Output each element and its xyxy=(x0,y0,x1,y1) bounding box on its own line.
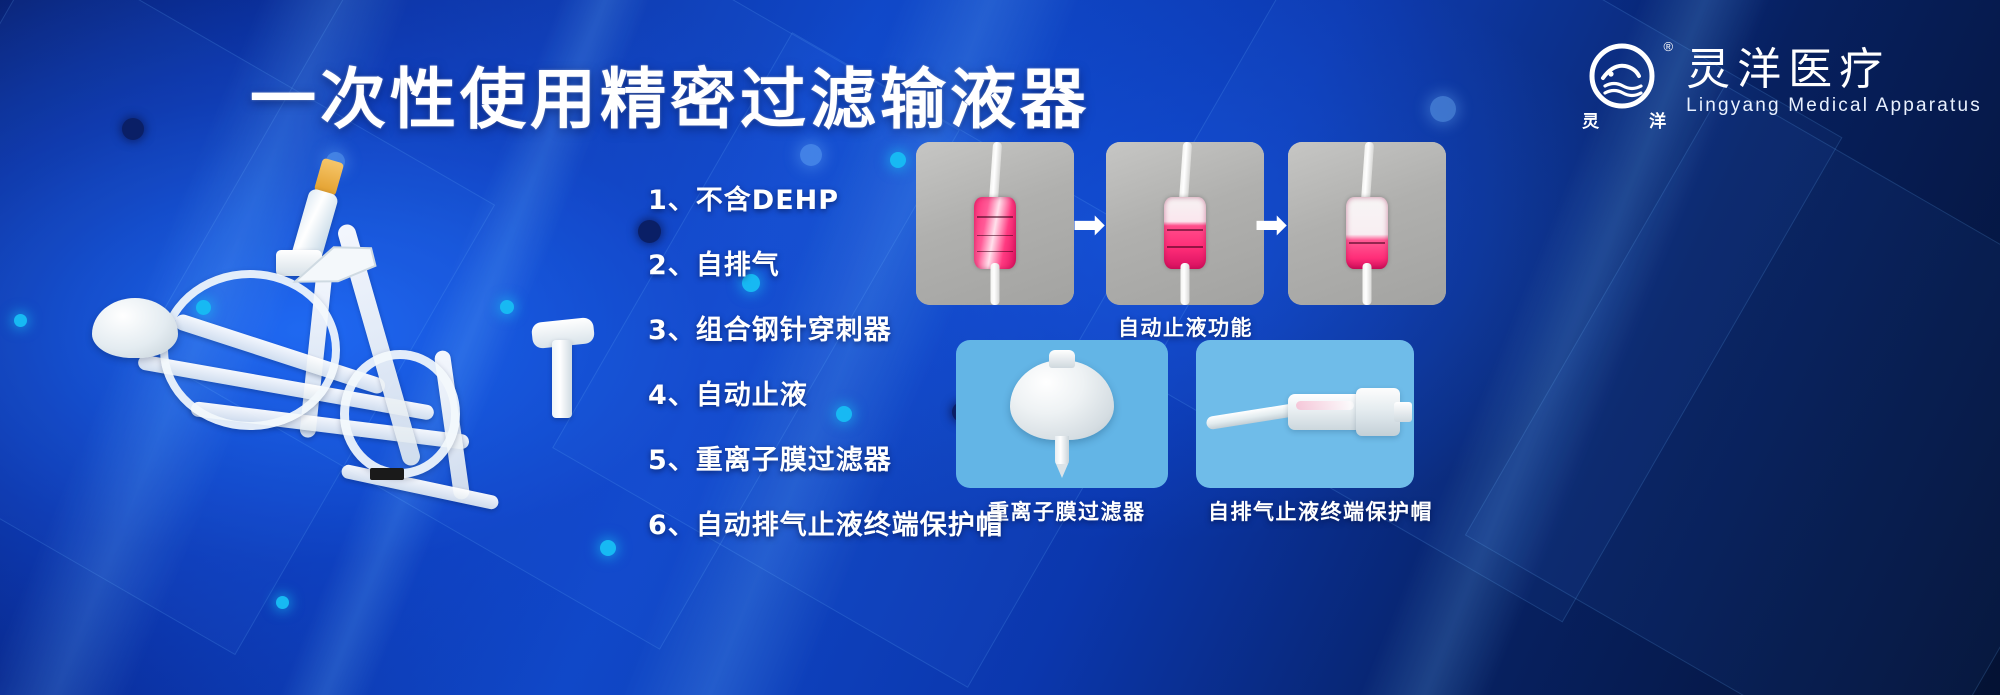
product-photo-cap xyxy=(1196,340,1414,488)
page-title: 一次性使用精密过滤输液器 xyxy=(250,46,1090,142)
logo-mark-char-right: 洋 xyxy=(1649,107,1666,132)
tube-clip xyxy=(370,468,404,480)
caption-filter: 重离子膜过滤器 xyxy=(988,496,1146,526)
brand-text: 灵洋医疗 Lingyang Medical Apparatus xyxy=(1686,47,1982,117)
logo-mark-char-left: 灵 xyxy=(1582,107,1599,132)
caption-protective-cap: 自排气止液终端保护帽 xyxy=(1208,496,1433,526)
brand-name-en: Lingyang Medical Apparatus xyxy=(1686,95,1982,117)
arrow-right-icon: ➡ xyxy=(1072,210,1106,244)
mesh-node xyxy=(14,314,27,327)
filter-chamber-half xyxy=(1164,197,1206,269)
tube-icon xyxy=(1363,263,1372,305)
tube-icon xyxy=(1181,263,1190,305)
caption-auto-stop: 自动止液功能 xyxy=(1118,312,1253,342)
ion-membrane-filter xyxy=(92,298,178,358)
sequence-photo-2 xyxy=(1106,142,1264,305)
mesh-node xyxy=(122,118,144,140)
logo-emblem-icon: ® 灵 洋 xyxy=(1578,36,1670,128)
steel-needle xyxy=(552,340,572,418)
tubing-coil xyxy=(160,270,340,430)
brand-name-cn: 灵洋医疗 xyxy=(1686,47,1982,93)
filter-chamber-empty xyxy=(1346,197,1388,269)
feature-item-6: 6、自动排气止液终端保护帽 xyxy=(648,503,1004,542)
connector-body xyxy=(1288,394,1362,430)
mesh-polygon xyxy=(1465,85,2000,695)
registered-mark: ® xyxy=(1663,40,1673,53)
feature-item-1: 1、不含DEHP xyxy=(648,178,1004,217)
mesh-node xyxy=(800,144,822,166)
mesh-node xyxy=(1430,96,1456,122)
feature-item-4: 4、自动止液 xyxy=(648,373,1004,412)
filter-housing xyxy=(1010,360,1114,440)
feature-item-2: 2、自排气 xyxy=(648,243,1004,282)
connector-tube xyxy=(1206,403,1299,430)
filter-cap xyxy=(1049,350,1075,368)
logo-mark-labels: 灵 洋 xyxy=(1578,107,1670,132)
tubing-coil xyxy=(340,350,460,478)
sequence-photo-3 xyxy=(1288,142,1446,305)
arrow-right-icon: ➡ xyxy=(1254,210,1288,244)
filter-stem xyxy=(1055,436,1069,466)
mesh-node xyxy=(276,596,289,609)
mesh-node xyxy=(890,152,906,168)
feature-list: 1、不含DEHP 2、自排气 3、组合钢针穿刺器 4、自动止液 5、重离子膜过滤… xyxy=(648,178,1004,542)
product-photo xyxy=(40,150,660,550)
connector-nose xyxy=(1394,402,1412,422)
feature-item-3: 3、组合钢针穿刺器 xyxy=(648,308,1004,347)
product-banner: 一次性使用精密过滤输液器 ® 灵 洋 灵洋医疗 Lingyang Medical… xyxy=(0,0,2000,695)
filter-tip xyxy=(1056,464,1068,478)
feature-item-5: 5、重离子膜过滤器 xyxy=(648,438,1004,477)
brand-logo: ® 灵 洋 灵洋医疗 Lingyang Medical Apparatus xyxy=(1578,36,1982,128)
